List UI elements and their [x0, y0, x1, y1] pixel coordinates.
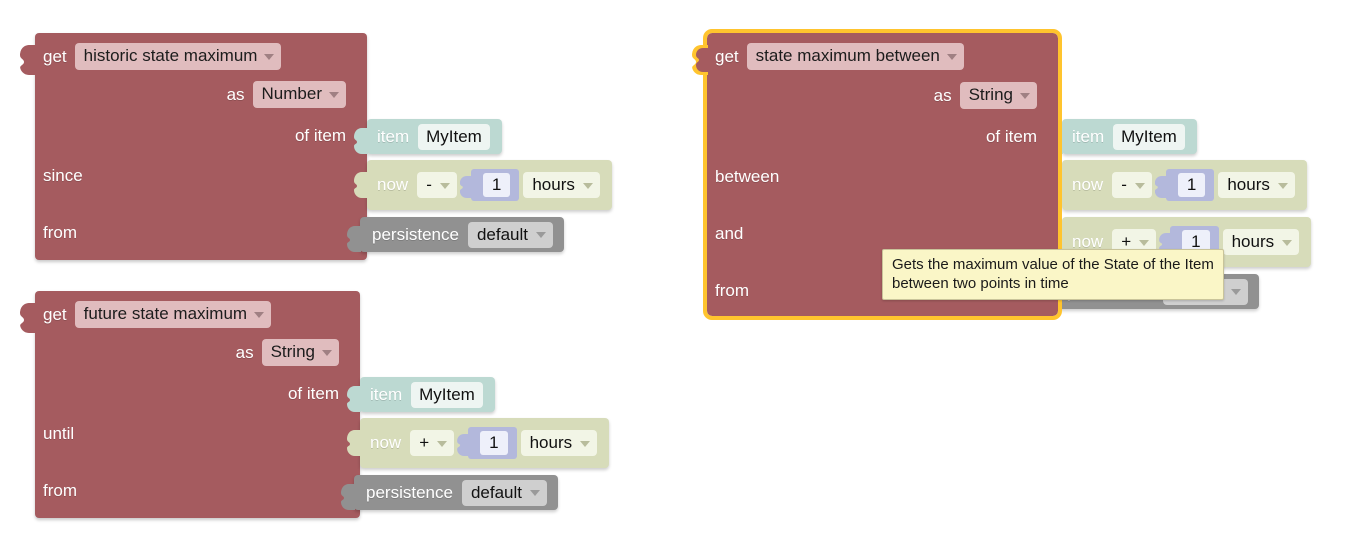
- between-label: between: [715, 167, 779, 187]
- as-type-dropdown[interactable]: String: [960, 82, 1037, 109]
- chevron-down-icon: [1139, 240, 1149, 246]
- block-number-amount[interactable]: 1: [471, 169, 519, 201]
- function-name-dropdown[interactable]: future state maximum: [75, 301, 271, 328]
- operator-dropdown[interactable]: -: [1112, 172, 1152, 198]
- operator-dropdown[interactable]: -: [417, 172, 457, 198]
- block-tooltip: Gets the maximum value of the State of t…: [882, 249, 1224, 300]
- amount-field[interactable]: 1: [1178, 173, 1205, 197]
- persistence-label: persistence: [366, 483, 453, 503]
- block-now-offset-between[interactable]: now - 1 hours: [1062, 160, 1307, 210]
- row-from: from: [43, 223, 77, 243]
- amount-field[interactable]: 1: [480, 431, 507, 455]
- output-plug-icon: [692, 45, 708, 75]
- input-tab-icon: [1155, 176, 1167, 198]
- as-label: as: [934, 86, 952, 106]
- of-item-label: of item: [986, 127, 1037, 147]
- row-of-item: of item: [295, 126, 346, 146]
- block-number-amount[interactable]: 1: [468, 427, 516, 459]
- row-since: since: [43, 166, 83, 186]
- get-label: get: [43, 47, 67, 67]
- chevron-down-icon: [329, 92, 339, 98]
- row-as-type[interactable]: as Number: [227, 81, 346, 108]
- get-label: get: [43, 305, 67, 325]
- chevron-down-icon: [1020, 93, 1030, 99]
- chevron-down-icon: [583, 183, 593, 189]
- amount-field[interactable]: 1: [483, 173, 510, 197]
- row-and: and: [715, 224, 743, 244]
- unit-dropdown[interactable]: hours: [1223, 229, 1300, 255]
- block-persistence-default[interactable]: persistence default: [354, 475, 558, 510]
- until-label: until: [43, 424, 74, 444]
- block-historic-state-maximum[interactable]: get historic state maximum as Number of …: [35, 33, 367, 260]
- item-label: item: [377, 127, 409, 147]
- item-name-field[interactable]: MyItem: [418, 124, 490, 150]
- chevron-down-icon: [437, 441, 447, 447]
- as-label: as: [227, 85, 245, 105]
- function-name-value: future state maximum: [84, 304, 247, 324]
- blockly-workspace[interactable]: { "workspace": { "background": "#ffffff"…: [0, 0, 1372, 534]
- operator-value: -: [426, 174, 432, 195]
- as-type-value: String: [969, 85, 1013, 105]
- output-plug-icon: [20, 303, 36, 333]
- now-label: now: [1072, 175, 1103, 195]
- operator-value: -: [1121, 174, 1127, 195]
- row-from: from: [715, 281, 749, 301]
- unit-value: hours: [532, 174, 575, 195]
- block-persistence-default[interactable]: persistence default: [360, 217, 564, 252]
- input-tab-icon: [460, 176, 472, 198]
- persistence-value: default: [477, 224, 528, 245]
- unit-dropdown[interactable]: hours: [523, 172, 600, 198]
- chevron-down-icon: [947, 54, 957, 60]
- of-item-label: of item: [295, 126, 346, 146]
- unit-value: hours: [1232, 231, 1275, 252]
- output-plug-icon: [20, 45, 36, 75]
- as-type-value: Number: [262, 84, 322, 104]
- item-name-field[interactable]: MyItem: [1113, 124, 1185, 150]
- as-type-dropdown[interactable]: Number: [253, 81, 346, 108]
- chevron-down-icon: [440, 183, 450, 189]
- persistence-dropdown[interactable]: default: [462, 480, 547, 506]
- chevron-down-icon: [254, 312, 264, 318]
- function-name-dropdown[interactable]: state maximum between: [747, 43, 964, 70]
- from-label: from: [43, 481, 77, 501]
- chevron-down-icon: [1278, 183, 1288, 189]
- row-get-function[interactable]: get future state maximum: [43, 301, 271, 328]
- chevron-down-icon: [536, 232, 546, 238]
- persistence-label: persistence: [372, 225, 459, 245]
- chevron-down-icon: [530, 490, 540, 496]
- chevron-down-icon: [1135, 183, 1145, 189]
- row-from: from: [43, 481, 77, 501]
- get-label: get: [715, 47, 739, 67]
- function-name-value: state maximum between: [756, 46, 940, 66]
- block-now-offset-since[interactable]: now - 1 hours: [367, 160, 612, 210]
- row-get-function[interactable]: get historic state maximum: [43, 43, 281, 70]
- chevron-down-icon: [264, 54, 274, 60]
- input-tab-icon: [457, 434, 469, 456]
- chevron-down-icon: [322, 350, 332, 356]
- row-as-type[interactable]: as String: [934, 82, 1037, 109]
- chevron-down-icon: [580, 441, 590, 447]
- block-number-amount[interactable]: 1: [1166, 169, 1214, 201]
- block-item-myitem[interactable]: item MyItem: [1062, 119, 1197, 154]
- row-as-type[interactable]: as String: [236, 339, 339, 366]
- row-of-item: of item: [986, 127, 1037, 147]
- from-label: from: [43, 223, 77, 243]
- unit-dropdown[interactable]: hours: [1218, 172, 1295, 198]
- block-item-myitem[interactable]: item MyItem: [367, 119, 502, 154]
- item-label: item: [370, 385, 402, 405]
- item-name-field[interactable]: MyItem: [411, 382, 483, 408]
- block-item-myitem[interactable]: item MyItem: [360, 377, 495, 412]
- chevron-down-icon: [1231, 289, 1241, 295]
- and-label: and: [715, 224, 743, 244]
- row-between: between: [715, 167, 779, 187]
- row-get-function[interactable]: get state maximum between: [715, 43, 964, 70]
- row-until: until: [43, 424, 74, 444]
- persistence-value: default: [471, 482, 522, 503]
- now-label: now: [370, 433, 401, 453]
- unit-dropdown[interactable]: hours: [521, 430, 598, 456]
- persistence-dropdown[interactable]: default: [468, 222, 553, 248]
- of-item-label: of item: [288, 384, 339, 404]
- as-type-dropdown[interactable]: String: [262, 339, 339, 366]
- operator-dropdown[interactable]: +: [410, 430, 454, 456]
- item-label: item: [1072, 127, 1104, 147]
- unit-value: hours: [530, 432, 573, 453]
- as-type-value: String: [271, 342, 315, 362]
- now-label: now: [377, 175, 408, 195]
- as-label: as: [236, 343, 254, 363]
- block-now-offset-until[interactable]: now + 1 hours: [360, 418, 609, 468]
- since-label: since: [43, 166, 83, 186]
- chevron-down-icon: [1282, 240, 1292, 246]
- block-future-state-maximum[interactable]: get future state maximum as String of it…: [35, 291, 360, 518]
- row-of-item: of item: [288, 384, 339, 404]
- from-label: from: [715, 281, 749, 301]
- function-name-dropdown[interactable]: historic state maximum: [75, 43, 282, 70]
- function-name-value: historic state maximum: [84, 46, 258, 66]
- operator-value: +: [419, 432, 429, 453]
- unit-value: hours: [1227, 174, 1270, 195]
